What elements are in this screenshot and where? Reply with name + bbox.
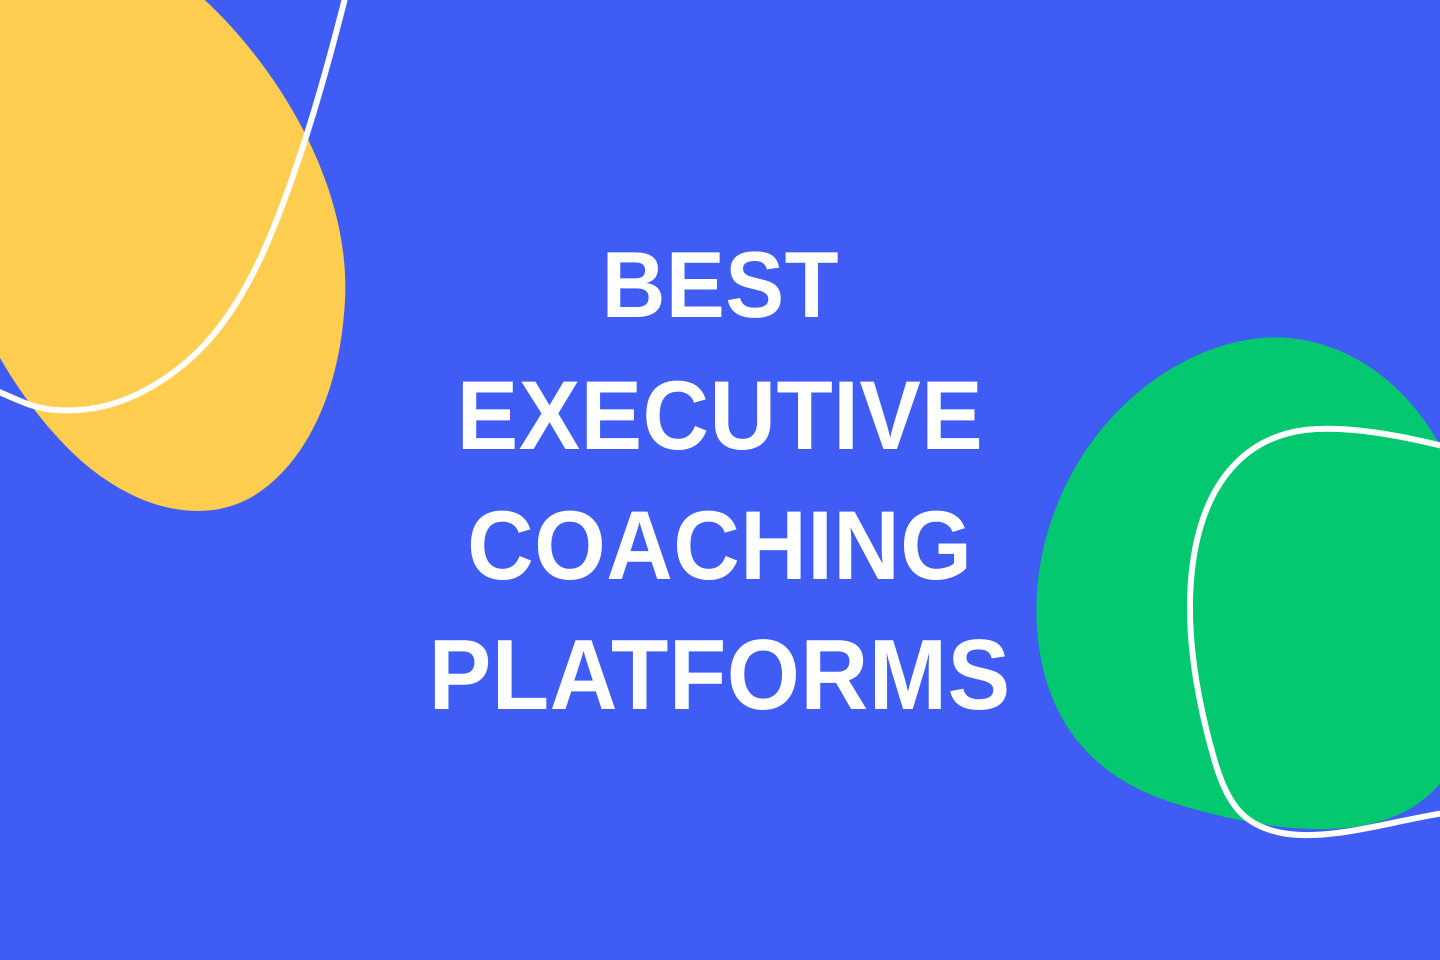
poster-canvas: BEST EXECUTIVE COACHING PLATFORMS	[0, 0, 1440, 960]
background-artwork	[0, 0, 1440, 960]
